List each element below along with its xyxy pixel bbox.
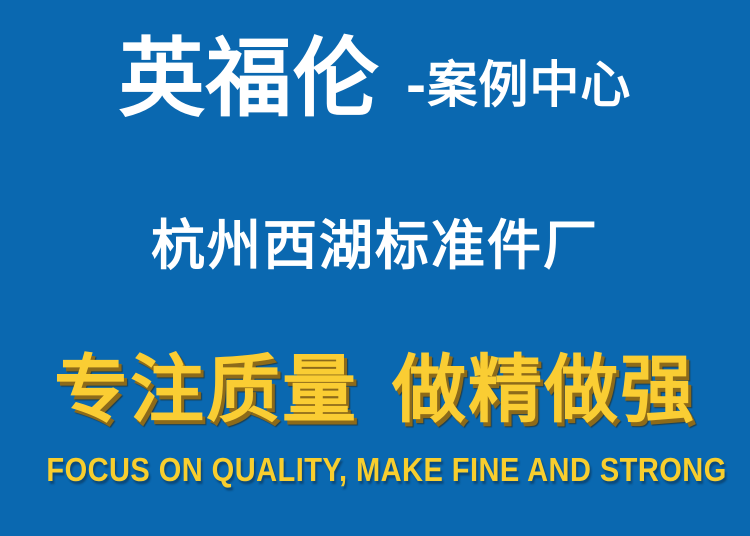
promotional-banner: 英福伦 -案例中心 杭州西湖标准件厂 专注质量做精做强 FOCUS ON QUA…	[0, 0, 750, 536]
english-tagline: FOCUS ON QUALITY, MAKE FINE AND STRONG	[46, 452, 726, 488]
company-name-row: 杭州西湖标准件厂	[0, 218, 750, 275]
brand-headline: 英福伦 -案例中心	[0, 36, 750, 144]
slogan-part-one: 专注质量	[54, 347, 358, 433]
brand-name: 英福伦	[119, 36, 380, 122]
slogan-part-two: 做精做强	[392, 347, 696, 433]
slogan-row: 专注质量做精做强	[0, 352, 750, 430]
brand-section-label: -案例中心	[406, 60, 632, 110]
company-name: 杭州西湖标准件厂	[151, 214, 599, 277]
tagline-row: FOCUS ON QUALITY, MAKE FINE AND STRONG	[0, 452, 750, 488]
